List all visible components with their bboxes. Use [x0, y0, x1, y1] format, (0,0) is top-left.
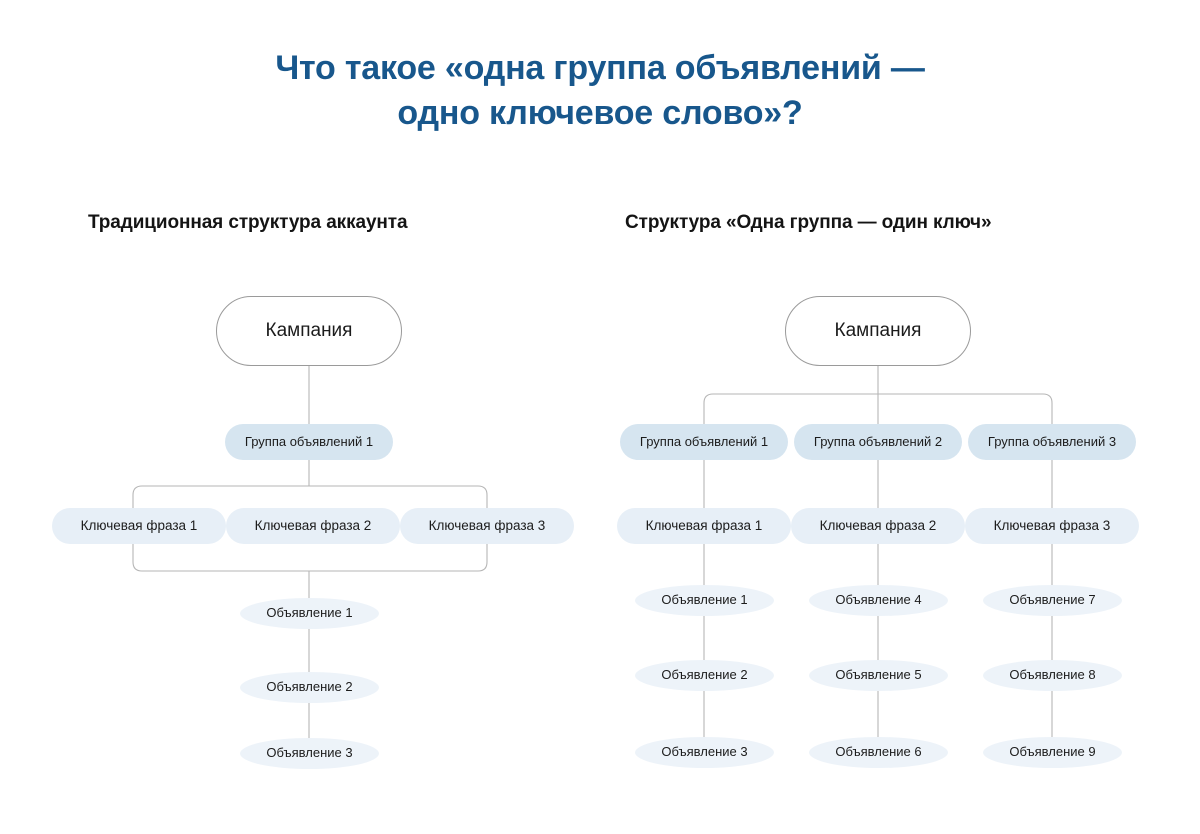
node-right-ad-1-label: Объявление 1: [661, 593, 747, 608]
node-left-keyword-1[interactable]: Ключевая фраза 1: [52, 508, 226, 544]
node-right-ad-1[interactable]: Объявление 1: [635, 585, 774, 616]
node-right-ad-9[interactable]: Объявление 9: [983, 737, 1122, 768]
node-right-ad-5-label: Объявление 5: [835, 668, 921, 683]
node-right-keyword-3-label: Ключевая фраза 3: [994, 518, 1111, 534]
node-left-keyword-2[interactable]: Ключевая фраза 2: [226, 508, 400, 544]
node-right-ad-7[interactable]: Объявление 7: [983, 585, 1122, 616]
node-left-keyword-3[interactable]: Ключевая фраза 3: [400, 508, 574, 544]
node-right-ad-5[interactable]: Объявление 5: [809, 660, 948, 691]
page-title: Что такое «одна группа объявлений — одно…: [0, 46, 1200, 136]
node-left-ad-3-label: Объявление 3: [266, 746, 352, 761]
node-left-keyword-1-label: Ключевая фраза 1: [81, 518, 198, 534]
node-left-keyword-3-label: Ключевая фраза 3: [429, 518, 546, 534]
node-right-ad-4[interactable]: Объявление 4: [809, 585, 948, 616]
node-right-keyword-1-label: Ключевая фраза 1: [646, 518, 763, 534]
node-right-ad-3[interactable]: Объявление 3: [635, 737, 774, 768]
node-right-group-3-label: Группа объявлений 3: [988, 435, 1116, 450]
heading-traditional-structure: Традиционная структура аккаунта: [88, 212, 407, 234]
node-right-keyword-3[interactable]: Ключевая фраза 3: [965, 508, 1139, 544]
node-right-ad-2[interactable]: Объявление 2: [635, 660, 774, 691]
node-right-ad-9-label: Объявление 9: [1009, 745, 1095, 760]
node-right-group-1[interactable]: Группа объявлений 1: [620, 424, 788, 460]
node-left-group-1[interactable]: Группа объявлений 1: [225, 424, 393, 460]
node-right-group-2[interactable]: Группа объявлений 2: [794, 424, 962, 460]
node-left-ad-1[interactable]: Объявление 1: [240, 598, 379, 629]
node-right-group-2-label: Группа объявлений 2: [814, 435, 942, 450]
node-right-ad-4-label: Объявление 4: [835, 593, 921, 608]
node-left-keyword-2-label: Ключевая фраза 2: [255, 518, 372, 534]
node-right-ad-2-label: Объявление 2: [661, 668, 747, 683]
node-right-keyword-2-label: Ключевая фраза 2: [820, 518, 937, 534]
node-right-campaign[interactable]: Кампания: [785, 296, 971, 366]
node-right-group-1-label: Группа объявлений 1: [640, 435, 768, 450]
node-left-campaign-label: Кампания: [266, 320, 353, 342]
node-left-ad-1-label: Объявление 1: [266, 606, 352, 621]
node-left-group-1-label: Группа объявлений 1: [245, 435, 373, 450]
node-right-ad-6-label: Объявление 6: [835, 745, 921, 760]
node-right-keyword-1[interactable]: Ключевая фраза 1: [617, 508, 791, 544]
node-left-ad-2-label: Объявление 2: [266, 680, 352, 695]
node-right-keyword-2[interactable]: Ключевая фраза 2: [791, 508, 965, 544]
page-title-line-2: одно ключевое слово»?: [0, 91, 1200, 136]
node-left-ad-3[interactable]: Объявление 3: [240, 738, 379, 769]
node-left-ad-2[interactable]: Объявление 2: [240, 672, 379, 703]
heading-one-group-one-keyword-structure: Структура «Одна группа — один ключ»: [625, 212, 991, 234]
node-left-campaign[interactable]: Кампания: [216, 296, 402, 366]
node-right-ad-6[interactable]: Объявление 6: [809, 737, 948, 768]
node-right-ad-7-label: Объявление 7: [1009, 593, 1095, 608]
node-right-ad-8[interactable]: Объявление 8: [983, 660, 1122, 691]
page-title-line-1: Что такое «одна группа объявлений —: [0, 46, 1200, 91]
node-right-group-3[interactable]: Группа объявлений 3: [968, 424, 1136, 460]
node-right-ad-3-label: Объявление 3: [661, 745, 747, 760]
node-right-ad-8-label: Объявление 8: [1009, 668, 1095, 683]
bar-right-group-distribution: [704, 394, 1052, 424]
node-right-campaign-label: Кампания: [835, 320, 922, 342]
